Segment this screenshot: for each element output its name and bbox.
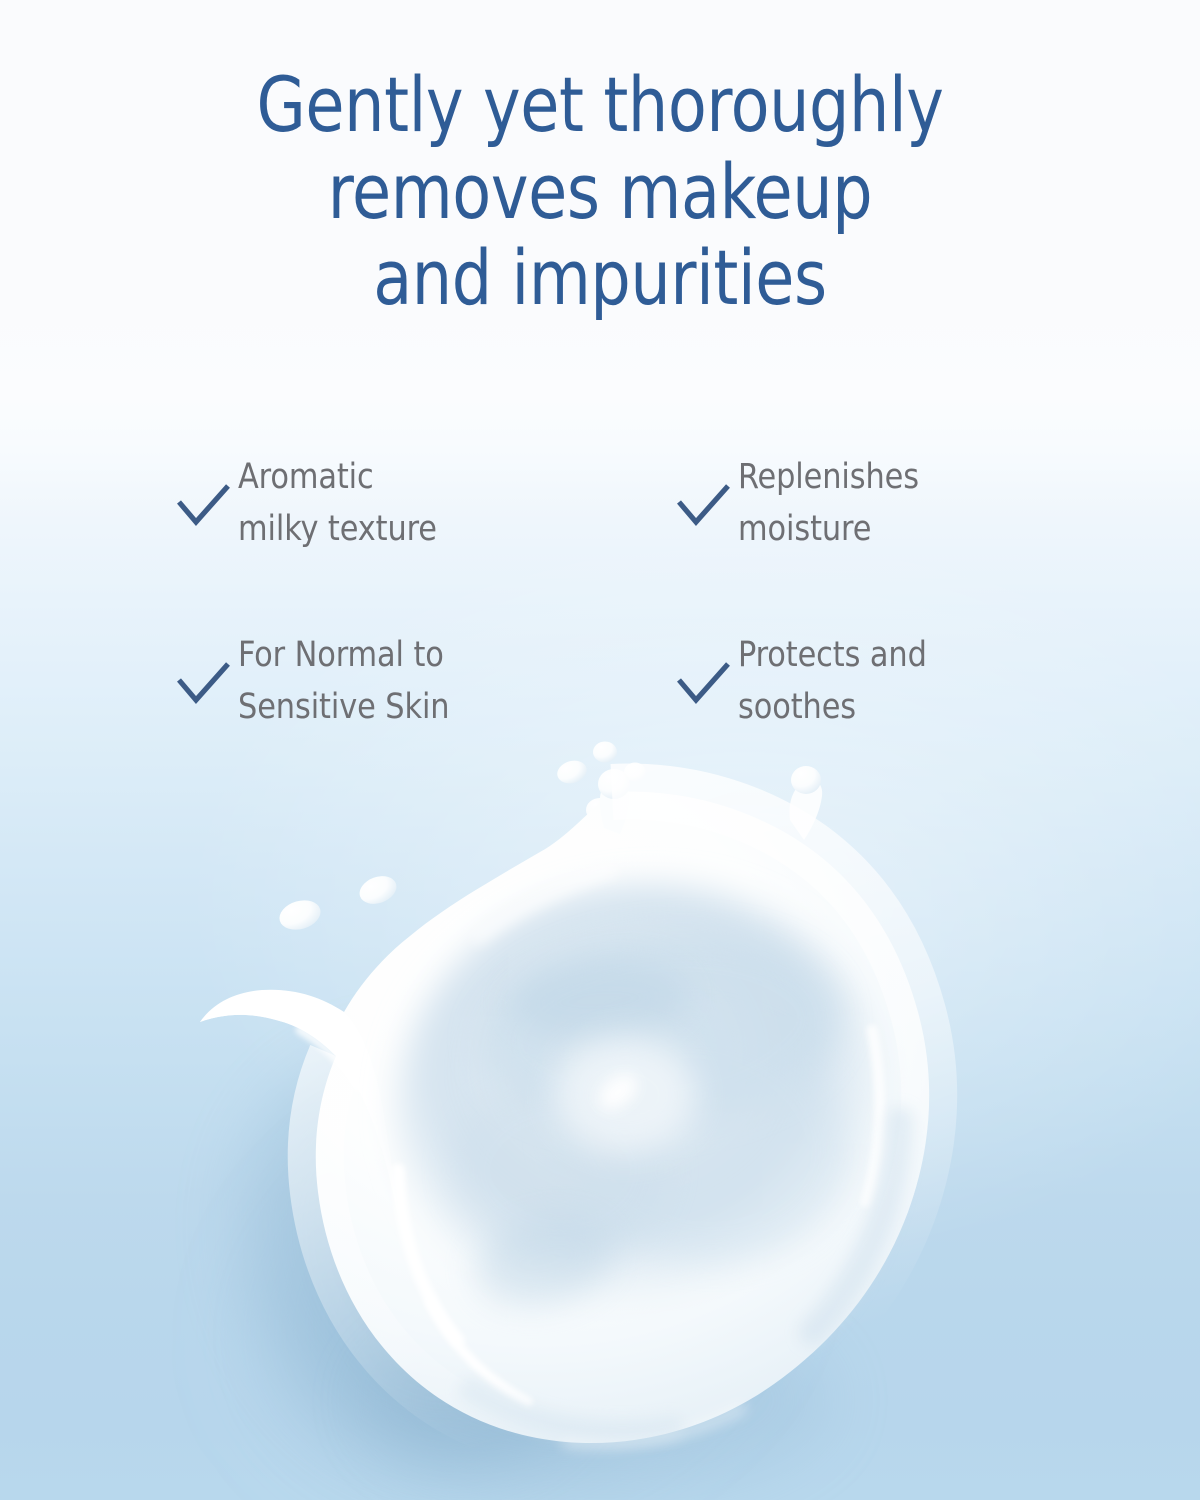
check-icon bbox=[176, 630, 238, 706]
check-icon bbox=[676, 630, 738, 706]
check-icon bbox=[676, 452, 738, 528]
benefit-label: Aromatic milky texture bbox=[238, 452, 437, 556]
milk-splash-image bbox=[0, 700, 1200, 1500]
check-icon bbox=[176, 452, 238, 528]
page-title: Gently yet thoroughly removes makeup and… bbox=[42, 62, 1158, 322]
product-benefits-page: Gently yet thoroughly removes makeup and… bbox=[0, 0, 1200, 1500]
benefit-item: Replenishes moisture bbox=[676, 452, 1076, 630]
benefit-label: Replenishes moisture bbox=[738, 452, 919, 556]
benefit-item: Aromatic milky texture bbox=[176, 452, 676, 630]
benefits-list: Aromatic milky texture Replenishes moist… bbox=[176, 452, 1076, 734]
